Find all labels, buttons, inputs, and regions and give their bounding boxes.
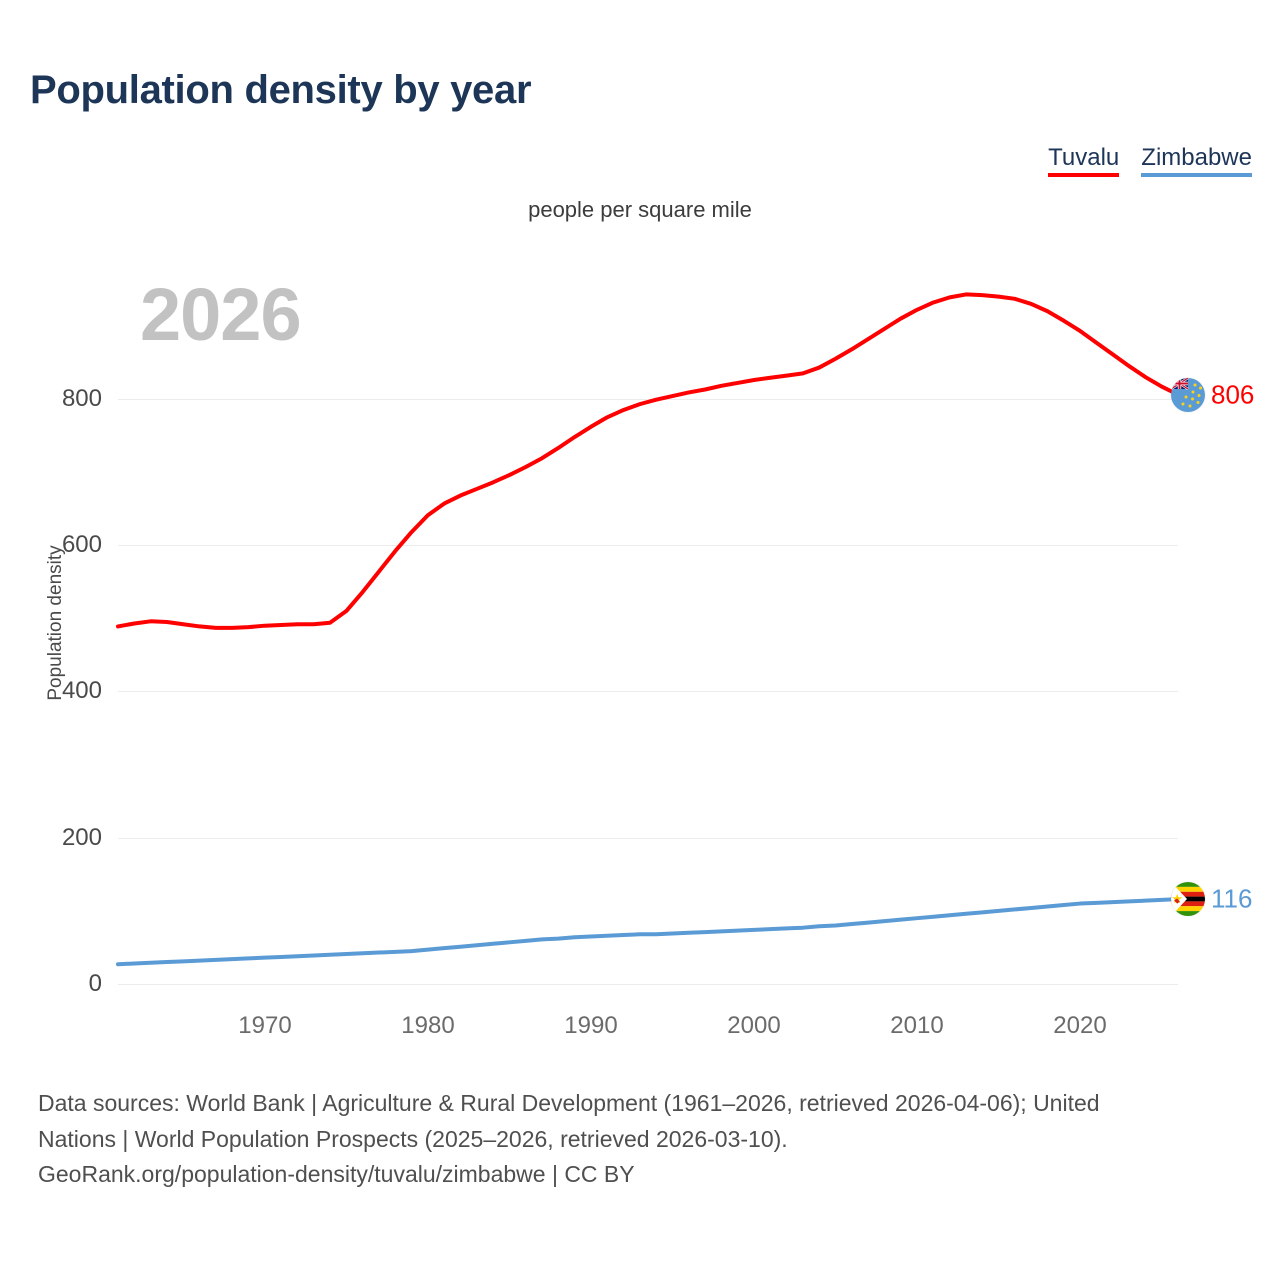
series-lines (0, 0, 1280, 1060)
series-line-zimbabwe (118, 899, 1178, 964)
chart-container: Population density by year Tuvalu Zimbab… (0, 0, 1280, 1280)
plot-area: 800 600 400 200 0 Population density 197… (0, 0, 1280, 1060)
footer-sources: Data sources: World Bank | Agriculture &… (38, 1086, 1258, 1193)
footer-line-3: GeoRank.org/population-density/tuvalu/zi… (38, 1157, 1258, 1193)
end-label-tuvalu: 806 (1211, 379, 1254, 410)
tuvalu-flag-icon (1171, 378, 1205, 412)
footer-line-2: Nations | World Population Prospects (20… (38, 1122, 1258, 1158)
zimbabwe-flag-icon (1171, 882, 1205, 916)
footer-line-1: Data sources: World Bank | Agriculture &… (38, 1086, 1258, 1122)
end-label-zimbabwe: 116 (1211, 884, 1252, 915)
series-line-tuvalu (118, 294, 1178, 627)
